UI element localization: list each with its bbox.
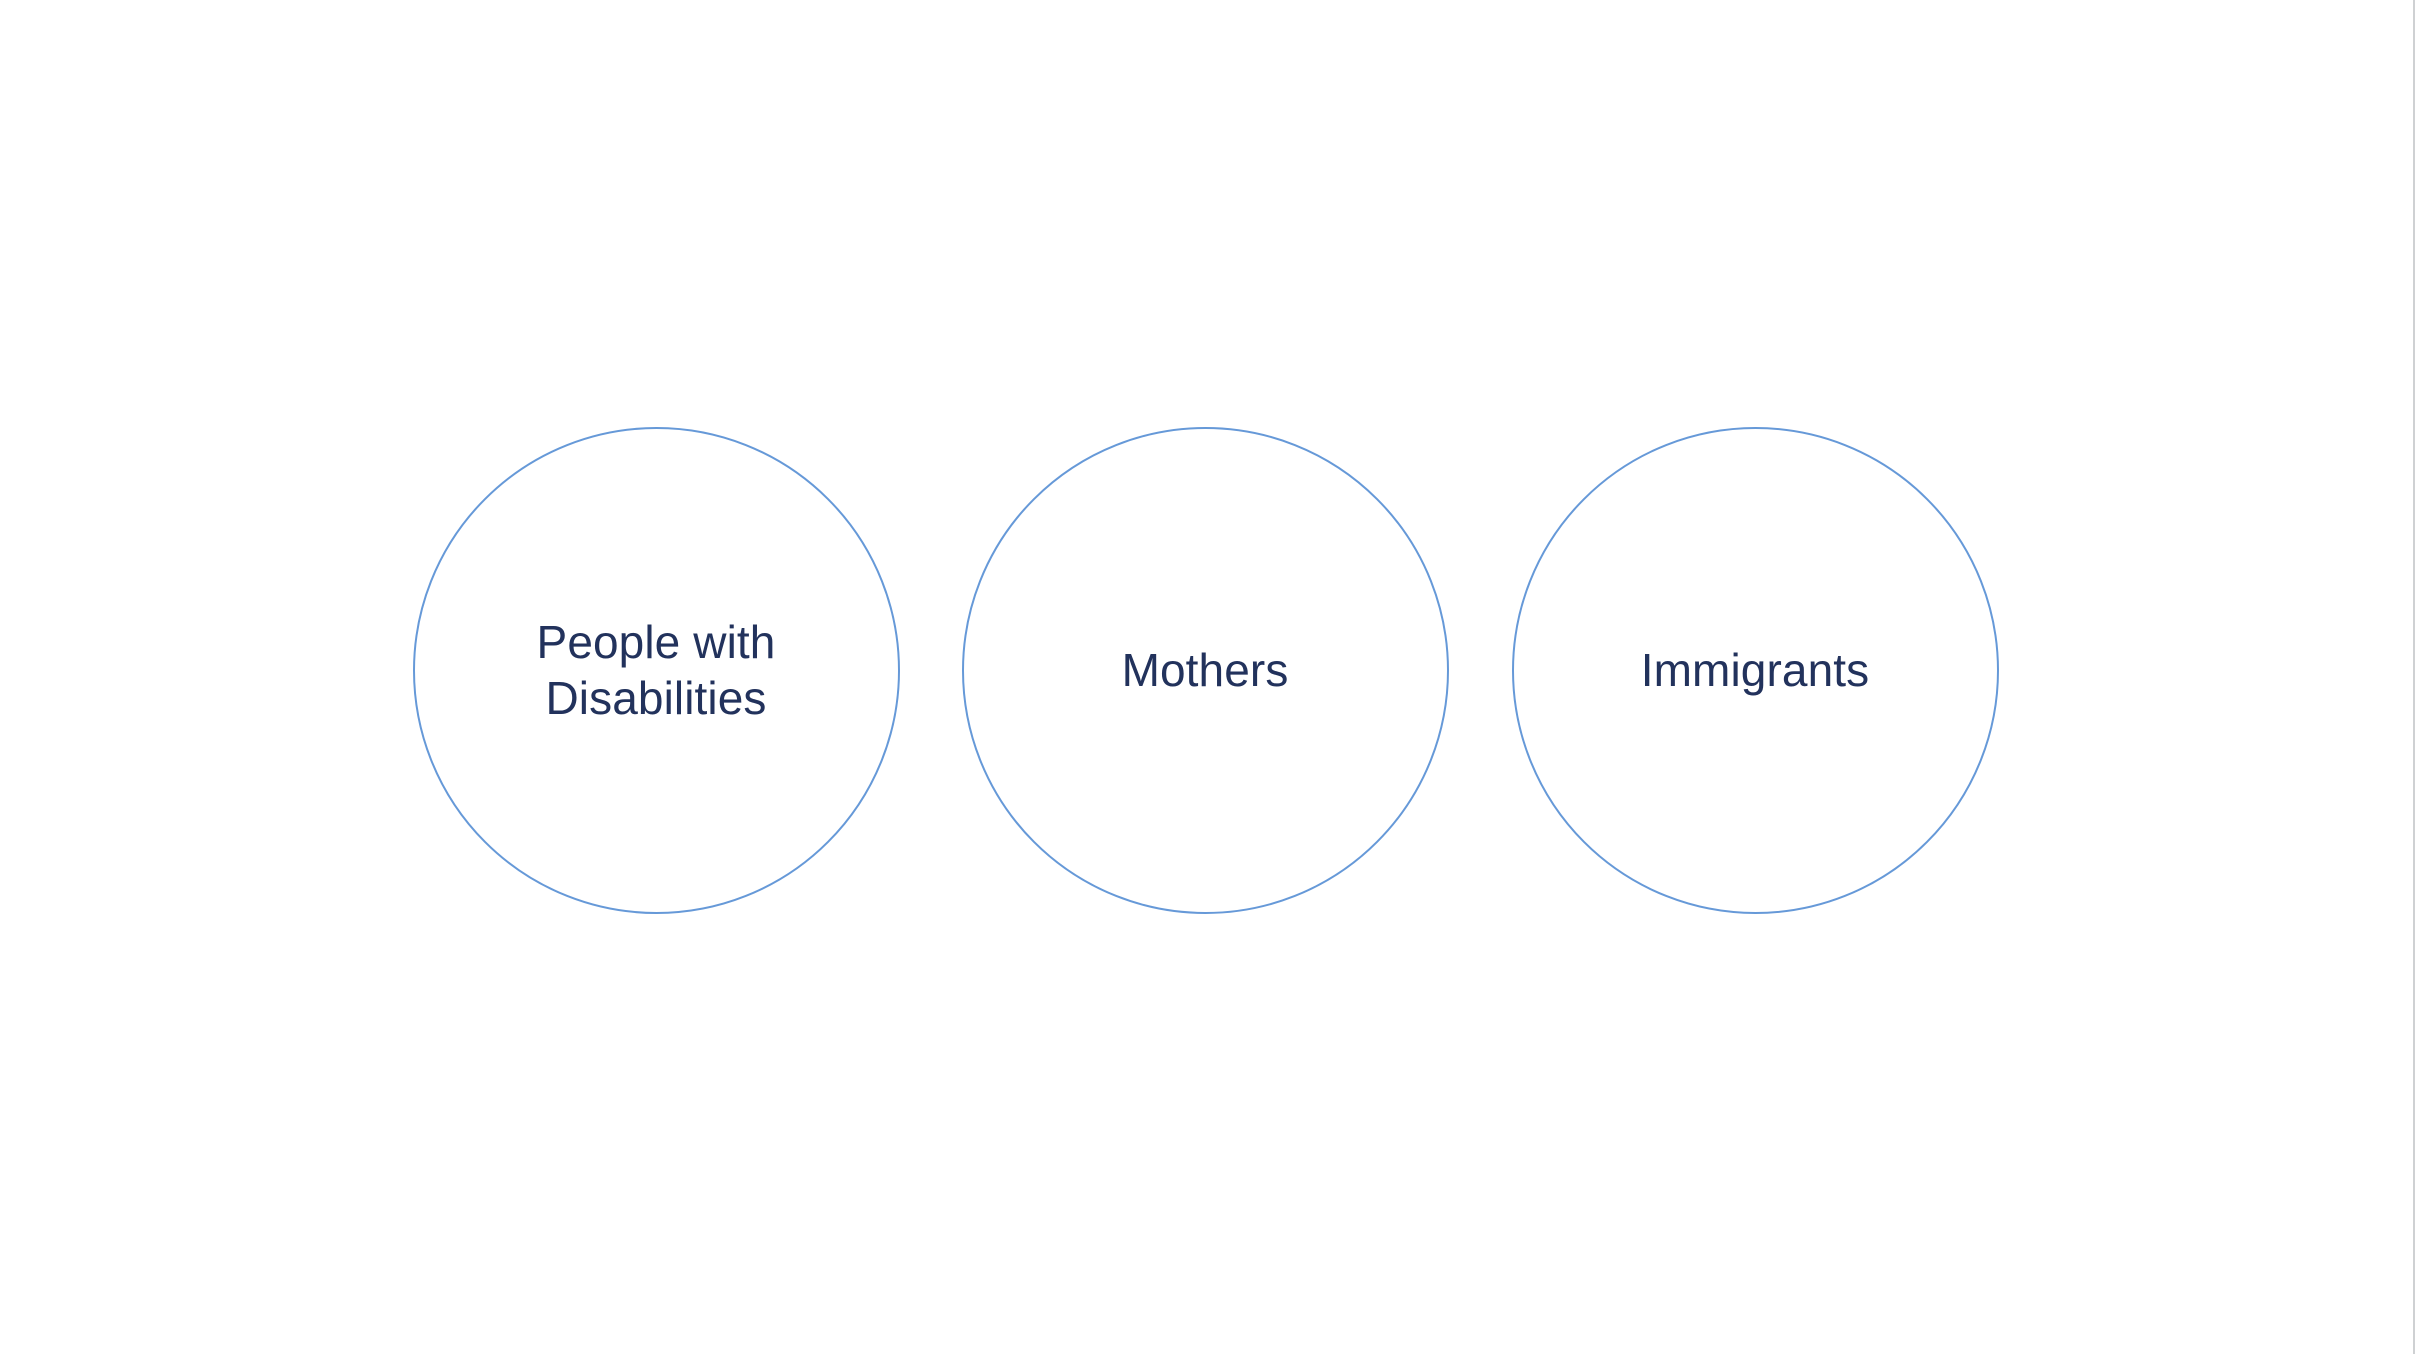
circle-group: People with Disabilities Mothers Immigra… xyxy=(413,427,1999,914)
right-edge-divider xyxy=(2413,0,2415,1354)
circle-label: People with Disabilities xyxy=(453,614,859,726)
circle-label: Immigrants xyxy=(1552,642,1958,698)
circle-label: Mothers xyxy=(1002,642,1408,698)
circle-node-mothers[interactable]: Mothers xyxy=(962,427,1449,914)
diagram-canvas: People with Disabilities Mothers Immigra… xyxy=(0,0,2418,1354)
circle-node-people-with-disabilities[interactable]: People with Disabilities xyxy=(413,427,900,914)
circle-node-immigrants[interactable]: Immigrants xyxy=(1512,427,1999,914)
